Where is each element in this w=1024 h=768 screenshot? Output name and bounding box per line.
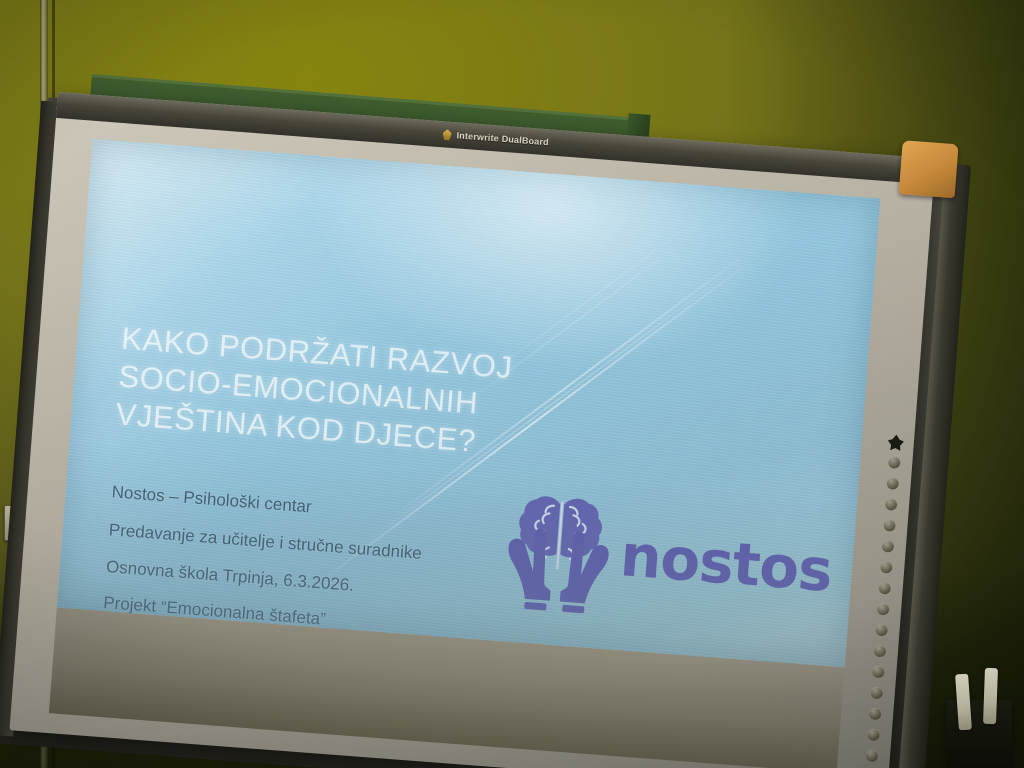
power-icon[interactable] bbox=[887, 434, 904, 451]
board-button[interactable] bbox=[877, 603, 890, 616]
board-button[interactable] bbox=[888, 456, 901, 469]
board-button[interactable] bbox=[874, 645, 887, 658]
slide-title: KAKO PODRŽATI RAZVOJ SOCIO-EMOCIONALNIH … bbox=[114, 320, 641, 473]
board-button[interactable] bbox=[883, 519, 896, 532]
nostos-logo: nostos bbox=[497, 471, 827, 645]
board-button[interactable] bbox=[866, 749, 879, 762]
corner-bracket-tan bbox=[899, 140, 959, 198]
marker-pen[interactable] bbox=[983, 668, 998, 724]
board-button[interactable] bbox=[869, 707, 882, 720]
board-button[interactable] bbox=[867, 728, 880, 741]
flame-logo-icon bbox=[442, 129, 452, 141]
board-button[interactable] bbox=[886, 477, 899, 490]
board-button[interactable] bbox=[881, 540, 894, 553]
board-button[interactable] bbox=[885, 498, 898, 511]
nostos-wordmark: nostos bbox=[618, 526, 834, 600]
board-button[interactable] bbox=[870, 686, 883, 699]
marker-holder[interactable] bbox=[946, 700, 1012, 768]
board-button[interactable] bbox=[878, 582, 891, 595]
board-bezel: Interwrite DualBoard bbox=[9, 92, 935, 768]
classroom-scene: Interwrite DualBoard bbox=[0, 0, 1024, 768]
interactive-whiteboard[interactable]: Interwrite DualBoard bbox=[8, 92, 955, 768]
projected-slide[interactable]: KAKO PODRŽATI RAZVOJ SOCIO-EMOCIONALNIH … bbox=[57, 139, 880, 668]
board-button[interactable] bbox=[880, 561, 893, 574]
board-button[interactable] bbox=[872, 665, 885, 678]
board-button[interactable] bbox=[875, 624, 888, 637]
board-brand-label: Interwrite DualBoard bbox=[456, 130, 549, 147]
brain-in-hands-icon bbox=[498, 480, 620, 620]
